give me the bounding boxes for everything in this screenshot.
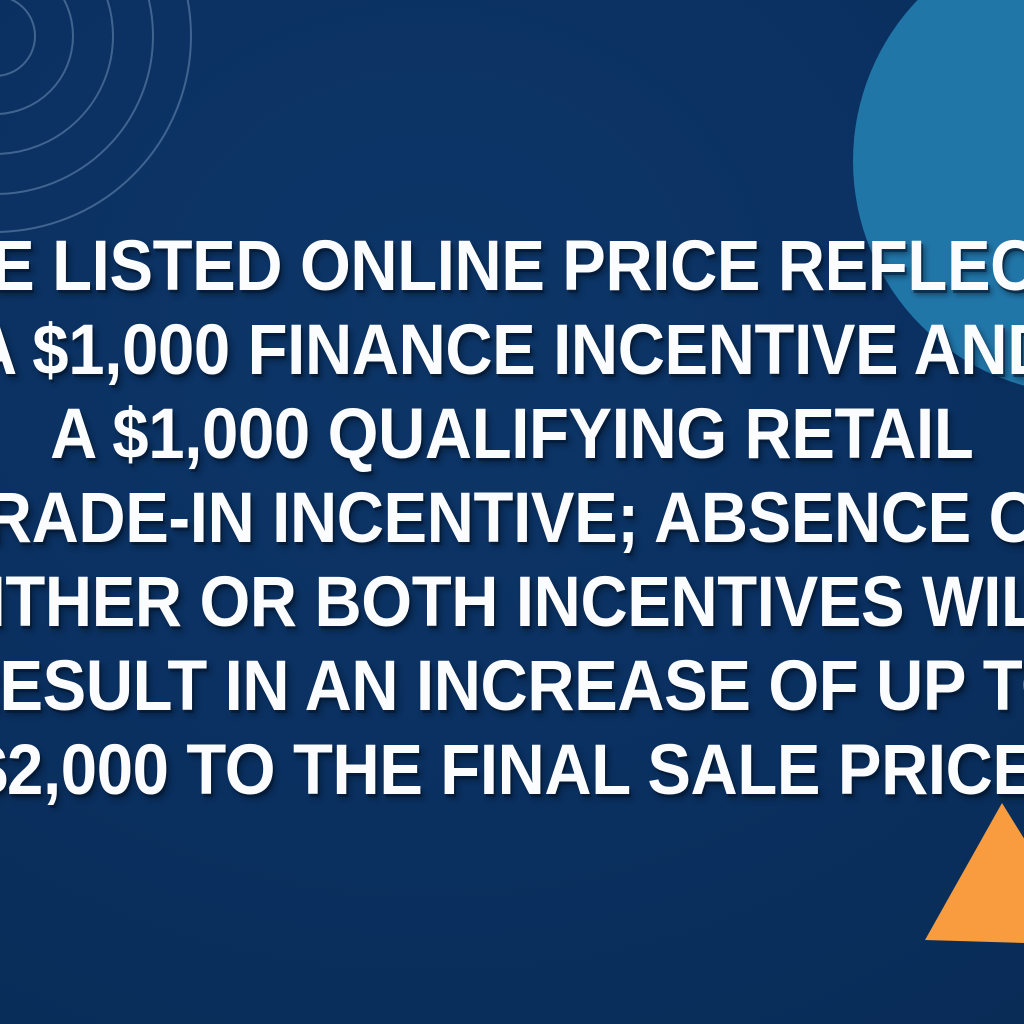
headline-line-6: RESULT IN AN INCREASE OF UP TO — [0, 645, 1024, 729]
headline-text-block: THE LISTED ONLINE PRICE REFLECTS A $1,00… — [0, 0, 1024, 1024]
headline-line-7: $2,000 TO THE FINAL SALE PRICE. — [0, 729, 1024, 813]
headline-line-2: A $1,000 FINANCE INCENTIVE AND — [0, 309, 1024, 393]
headline-line-4: TRADE-IN INCENTIVE; ABSENCE OF — [0, 477, 1024, 561]
headline-line-5: EITHER OR BOTH INCENTIVES WILL — [0, 561, 1024, 645]
headline-line-3: A $1,000 QUALIFYING RETAIL — [50, 393, 973, 477]
headline-line-1: THE LISTED ONLINE PRICE REFLECTS — [0, 225, 1024, 309]
promo-graphic-canvas: THE LISTED ONLINE PRICE REFLECTS A $1,00… — [0, 0, 1024, 1024]
